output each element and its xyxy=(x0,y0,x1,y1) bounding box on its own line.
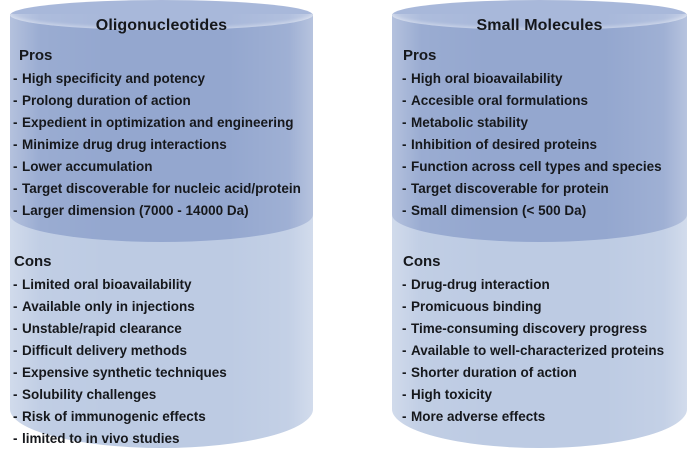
bullet-dash-icon: - xyxy=(402,340,411,362)
list-item: -limited to in vivo studies xyxy=(10,428,313,450)
bullet-dash-icon: - xyxy=(13,406,22,428)
cons-section-oligonucleotides: Cons -Limited oral bioavailability -Avai… xyxy=(10,252,313,450)
list-item: -High oral bioavailability xyxy=(392,68,687,90)
bullet-dash-icon: - xyxy=(402,112,411,134)
bullet-dash-icon: - xyxy=(402,384,411,406)
bullet-dash-icon: - xyxy=(402,318,411,340)
bullet-dash-icon: - xyxy=(402,178,411,200)
list-item-label: Inhibition of desired proteins xyxy=(411,137,597,152)
list-item: -Unstable/rapid clearance xyxy=(10,318,313,340)
list-item-label: Metabolic stability xyxy=(411,115,528,130)
list-item: -Larger dimension (7000 - 14000 Da) xyxy=(10,200,313,222)
list-item: -Limited oral bioavailability xyxy=(10,274,313,296)
list-item-label: Target discoverable for nucleic acid/pro… xyxy=(22,181,301,196)
cylinder-content: Small Molecules Pros -High oral bioavail… xyxy=(392,0,687,452)
bullet-dash-icon: - xyxy=(402,68,411,90)
list-item-label: Risk of immunogenic effects xyxy=(22,409,206,424)
bullet-dash-icon: - xyxy=(402,200,411,222)
list-item-label: Promicuous binding xyxy=(411,299,542,314)
bullet-dash-icon: - xyxy=(13,200,22,222)
list-item-label: High oral bioavailability xyxy=(411,71,563,86)
bullet-dash-icon: - xyxy=(13,362,22,384)
list-item: -Risk of immunogenic effects xyxy=(10,406,313,428)
bullet-dash-icon: - xyxy=(402,156,411,178)
list-item: -High specificity and potency xyxy=(10,68,313,90)
list-item-label: Accesible oral formulations xyxy=(411,93,588,108)
list-item: -Shorter duration of action xyxy=(392,362,687,384)
bullet-dash-icon: - xyxy=(13,384,22,406)
pros-heading: Pros xyxy=(392,46,687,66)
list-item-label: limited to in vivo studies xyxy=(22,431,180,446)
column-title-small-molecules: Small Molecules xyxy=(392,17,687,35)
list-item-label: Available to well-characterized proteins xyxy=(411,343,664,358)
bullet-dash-icon: - xyxy=(402,296,411,318)
list-item-label: High specificity and potency xyxy=(22,71,205,86)
cylinder-small-molecules: Small Molecules Pros -High oral bioavail… xyxy=(392,0,687,452)
list-item: -Available to well-characterized protein… xyxy=(392,340,687,362)
list-item: -Promicuous binding xyxy=(392,296,687,318)
list-item: -Function across cell types and species xyxy=(392,156,687,178)
list-item: -Lower accumulation xyxy=(10,156,313,178)
bullet-dash-icon: - xyxy=(13,428,22,450)
bullet-dash-icon: - xyxy=(13,318,22,340)
diagram-canvas: Oligonucleotides Pros -High specificity … xyxy=(0,0,700,460)
list-item-label: Available only in injections xyxy=(22,299,195,314)
pros-heading: Pros xyxy=(10,46,313,66)
list-item-label: Expensive synthetic techniques xyxy=(22,365,227,380)
list-item-label: Shorter duration of action xyxy=(411,365,577,380)
cons-list-small-molecules: -Drug-drug interaction -Promicuous bindi… xyxy=(392,274,687,428)
list-item-label: Small dimension (< 500 Da) xyxy=(411,203,586,218)
list-item: -Drug-drug interaction xyxy=(392,274,687,296)
list-item: -Expensive synthetic techniques xyxy=(10,362,313,384)
bullet-dash-icon: - xyxy=(402,274,411,296)
list-item-label: Unstable/rapid clearance xyxy=(22,321,182,336)
pros-list-oligonucleotides: -High specificity and potency -Prolong d… xyxy=(10,68,313,222)
list-item: -Target discoverable for nucleic acid/pr… xyxy=(10,178,313,200)
bullet-dash-icon: - xyxy=(13,340,22,362)
list-item: -High toxicity xyxy=(392,384,687,406)
list-item-label: Prolong duration of action xyxy=(22,93,191,108)
list-item-label: High toxicity xyxy=(411,387,492,402)
bullet-dash-icon: - xyxy=(13,112,22,134)
list-item: -Metabolic stability xyxy=(392,112,687,134)
bullet-dash-icon: - xyxy=(402,90,411,112)
column-title-oligonucleotides: Oligonucleotides xyxy=(10,17,313,35)
bullet-dash-icon: - xyxy=(13,134,22,156)
list-item-label: Lower accumulation xyxy=(22,159,153,174)
pros-section-oligonucleotides: Pros -High specificity and potency -Prol… xyxy=(10,46,313,222)
list-item-label: Expedient in optimization and engineerin… xyxy=(22,115,294,130)
list-item: -Target discoverable for protein xyxy=(392,178,687,200)
list-item-label: Minimize drug drug interactions xyxy=(22,137,227,152)
list-item: -Difficult delivery methods xyxy=(10,340,313,362)
list-item-label: Function across cell types and species xyxy=(411,159,662,174)
list-item-label: More adverse effects xyxy=(411,409,545,424)
list-item-label: Difficult delivery methods xyxy=(22,343,187,358)
bullet-dash-icon: - xyxy=(13,178,22,200)
bullet-dash-icon: - xyxy=(402,134,411,156)
bullet-dash-icon: - xyxy=(13,296,22,318)
cylinder-content: Oligonucleotides Pros -High specificity … xyxy=(10,0,313,452)
pros-list-small-molecules: -High oral bioavailability -Accesible or… xyxy=(392,68,687,222)
list-item: -Accesible oral formulations xyxy=(392,90,687,112)
list-item: -Expedient in optimization and engineeri… xyxy=(10,112,313,134)
bullet-dash-icon: - xyxy=(13,68,22,90)
list-item: -Time-consuming discovery progress xyxy=(392,318,687,340)
list-item: -Available only in injections xyxy=(10,296,313,318)
cons-heading: Cons xyxy=(392,252,687,272)
list-item-label: Larger dimension (7000 - 14000 Da) xyxy=(22,203,249,218)
list-item: -Minimize drug drug interactions xyxy=(10,134,313,156)
list-item: -Solubility challenges xyxy=(10,384,313,406)
bullet-dash-icon: - xyxy=(13,156,22,178)
bullet-dash-icon: - xyxy=(402,406,411,428)
list-item-label: Solubility challenges xyxy=(22,387,156,402)
list-item: -Prolong duration of action xyxy=(10,90,313,112)
cons-list-oligonucleotides: -Limited oral bioavailability -Available… xyxy=(10,274,313,450)
cons-heading: Cons xyxy=(10,252,313,272)
list-item-label: Drug-drug interaction xyxy=(411,277,550,292)
list-item: -More adverse effects xyxy=(392,406,687,428)
cylinder-oligonucleotides: Oligonucleotides Pros -High specificity … xyxy=(10,0,313,452)
list-item: -Inhibition of desired proteins xyxy=(392,134,687,156)
list-item-label: Time-consuming discovery progress xyxy=(411,321,647,336)
pros-section-small-molecules: Pros -High oral bioavailability -Accesib… xyxy=(392,46,687,222)
list-item-label: Target discoverable for protein xyxy=(411,181,609,196)
list-item: -Small dimension (< 500 Da) xyxy=(392,200,687,222)
list-item-label: Limited oral bioavailability xyxy=(22,277,192,292)
bullet-dash-icon: - xyxy=(402,362,411,384)
bullet-dash-icon: - xyxy=(13,274,22,296)
bullet-dash-icon: - xyxy=(13,90,22,112)
cons-section-small-molecules: Cons -Drug-drug interaction -Promicuous … xyxy=(392,252,687,428)
